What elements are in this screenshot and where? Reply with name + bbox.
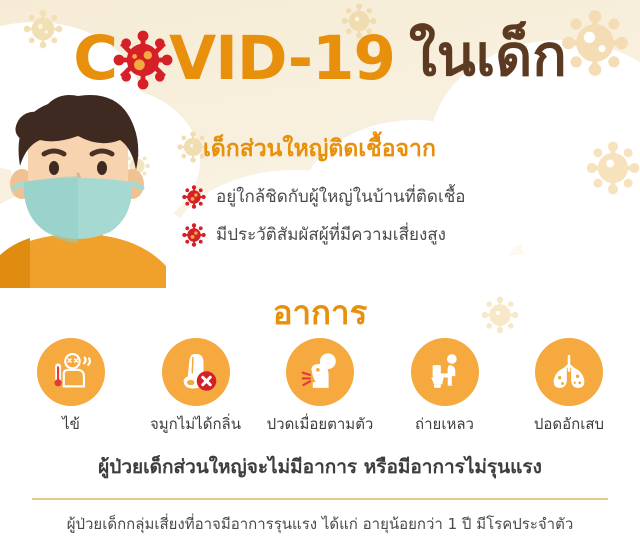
lungs-pneumonia-icon [535,338,603,406]
symptom-item-diarrhea: ถ่ายเหลว [386,338,504,433]
symptom-label: ปวดเมื่อยตามตัว [267,416,374,433]
symptom-item-pneumonia: ปอดอักเสบ [510,338,628,433]
risk-group-note: ผู้ป่วยเด็กกลุ่มเสี่ยงที่อาจมีอาการรุนแร… [0,512,640,536]
list-item: มีประวัติสัมผัสผู้ที่มีความเสี่ยงสูง [182,223,622,247]
title-letter-c: C [73,28,117,89]
virus-icon [113,30,173,90]
nose-no-smell-icon [162,338,230,406]
symptom-label: จมูกไม่ได้กลิ่น [150,416,241,433]
page-title: C VID-19 [0,22,640,94]
virus-bullet-icon [182,223,206,247]
list-item: อยู่ใกล้ชิดกับผู้ใหญ่ในบ้านที่ติดเชื้อ [182,185,622,209]
symptoms-heading: อาการ [0,286,640,339]
fever-thermometer-icon [37,338,105,406]
list-item-label: มีประวัติสัมผัสผู้ที่มีความเสี่ยงสูง [216,225,446,245]
diarrhea-toilet-icon [411,338,479,406]
symptom-item-body-ache: ปวดเมื่อยตามตัว [261,338,379,433]
infected-from-heading: เด็กส่วนใหญ่ติดเชื้อจาก [203,131,436,167]
infographic-root: C VID-19 [0,0,640,549]
symptom-label: ถ่ายเหลว [415,416,474,433]
infection-source-list: อยู่ใกล้ชิดกับผู้ใหญ่ในบ้านที่ติดเชื้อ [182,185,622,261]
title-thai-text: ในเด็ก [409,28,567,85]
virus-bullet-icon [182,185,206,209]
body-ache-icon [286,338,354,406]
symptom-item-loss-of-smell: จมูกไม่ได้กลิ่น [137,338,255,433]
title-letters-vid: VID-19 [169,28,395,89]
list-item-label: อยู่ใกล้ชิดกับผู้ใหญ่ในบ้านที่ติดเชื้อ [216,187,466,207]
symptom-label: ไข้ [62,416,80,433]
boy-with-mask-illustration [0,88,175,288]
main-statement: ผู้ป่วยเด็กส่วนใหญ่จะไม่มีอาการ หรือมีอา… [0,452,640,482]
symptom-item-fever: ไข้ [12,338,130,433]
symptom-label: ปอดอักเสบ [534,416,604,433]
divider [32,498,608,500]
symptoms-list: ไข้ จมูกไม่ได้กลิ่น [12,338,628,433]
